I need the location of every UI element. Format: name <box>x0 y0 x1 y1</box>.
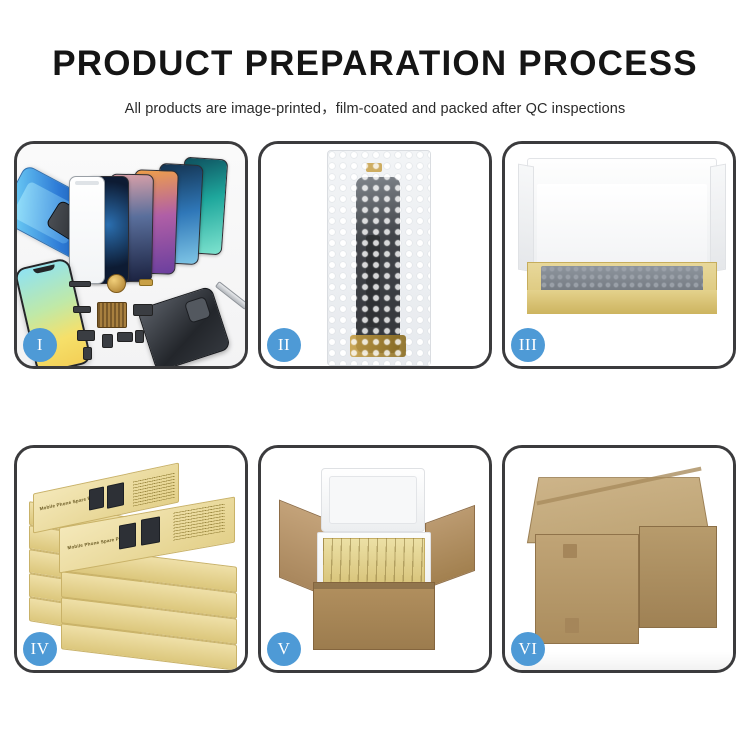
packed-boxes-separators <box>323 538 425 584</box>
header: PRODUCT PREPARATION PROCESS All products… <box>0 0 750 118</box>
part-small-icon <box>77 330 95 341</box>
step-panel-5[interactable]: V <box>258 445 492 673</box>
kraft-box-front-icon <box>527 290 717 314</box>
box-window-screen-2 <box>107 482 124 509</box>
carton-body-icon <box>313 582 435 650</box>
step-badge-3: III <box>511 328 545 362</box>
foam-box-lid-icon <box>321 468 425 532</box>
gold-component-icon <box>107 274 126 293</box>
step-badge-1: I <box>23 328 57 362</box>
box-window-screen-3 <box>119 523 136 550</box>
carton-tape-top-icon <box>563 544 577 558</box>
wrapped-flex-cable-icon <box>350 335 406 357</box>
carton-flap-right-icon <box>425 505 475 589</box>
page-subtitle: All products are image-printed，film-coat… <box>0 97 750 118</box>
part-sim-tray-icon <box>83 347 92 360</box>
tweezers-icon <box>215 281 245 310</box>
carton-front-icon <box>535 534 639 644</box>
step-badge-2: II <box>267 328 301 362</box>
process-steps-grid: I II III <box>14 141 736 681</box>
part-gold-flex-icon <box>139 279 153 286</box>
carton-tape-bottom-icon <box>565 618 579 633</box>
page-title: PRODUCT PREPARATION PROCESS <box>0 46 750 81</box>
box-window-screen-4 <box>141 516 160 545</box>
step-badge-5: V <box>267 632 301 666</box>
step-badge-4: IV <box>23 632 57 666</box>
part-speaker-icon <box>117 332 133 342</box>
connector-grid-icon <box>97 302 127 328</box>
box-stack-group: Mobile Phone Spare Parts Mobile Phone Sp… <box>27 470 241 656</box>
step-badge-6: VI <box>511 632 545 666</box>
part-chip-icon <box>69 281 91 287</box>
carton-side-icon <box>639 526 717 628</box>
part-bracket-icon <box>73 306 91 313</box>
phone-fan-group <box>69 150 245 270</box>
part-camera-icon <box>102 334 113 348</box>
tempered-glass-icon <box>69 176 105 284</box>
page-root: PRODUCT PREPARATION PROCESS All products… <box>0 0 750 750</box>
part-flex-cable-icon <box>133 304 153 316</box>
wrapped-tape-icon <box>366 163 382 172</box>
wrapped-screen-part-icon <box>356 177 400 353</box>
step-panel-3[interactable]: III <box>502 141 736 369</box>
step-panel-2[interactable]: II <box>258 141 492 369</box>
part-button-icon <box>135 330 144 343</box>
box-window-screen-1 <box>89 486 104 510</box>
step-panel-6[interactable]: VI <box>502 445 736 673</box>
step-panel-1[interactable]: I <box>14 141 248 369</box>
step-panel-4[interactable]: Mobile Phone Spare Parts Mobile Phone Sp… <box>14 445 248 673</box>
bubble-bag-icon <box>327 150 431 366</box>
phone-back-housing-icon <box>137 286 232 366</box>
